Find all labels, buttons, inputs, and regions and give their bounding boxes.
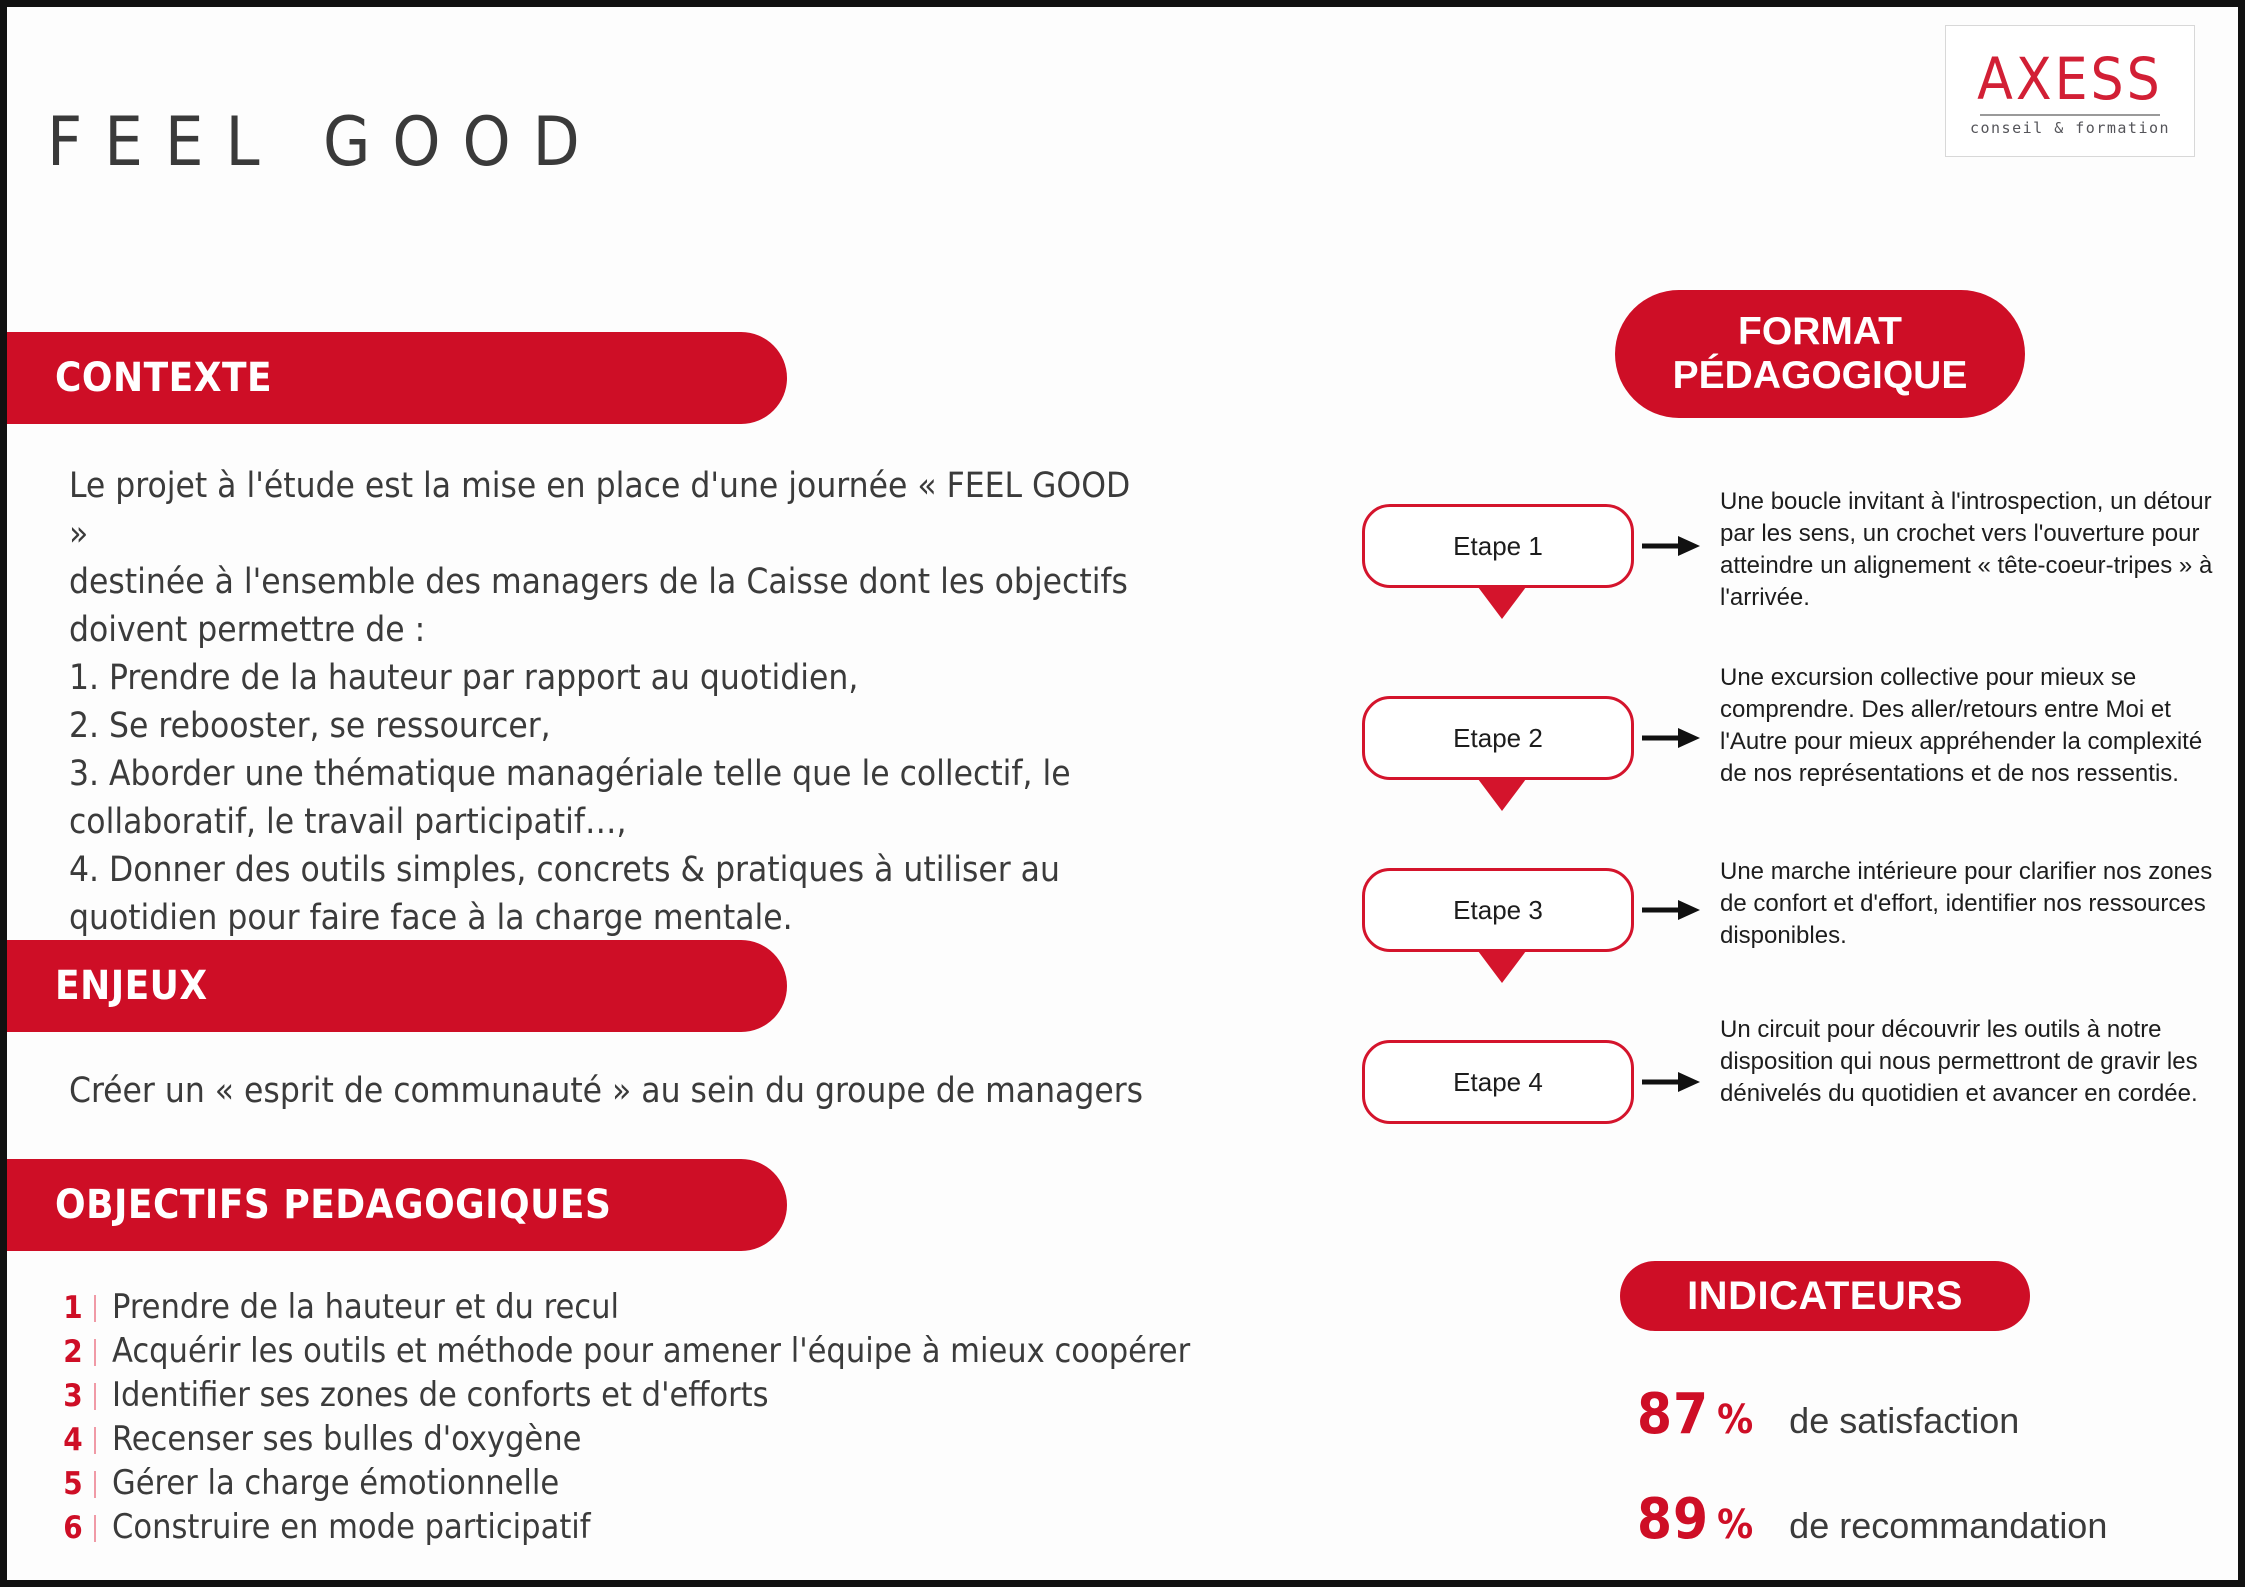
section-banner-enjeux: ENJEUX: [7, 940, 787, 1032]
objectif-text: Gérer la charge émotionnelle: [112, 1463, 559, 1503]
objectif-separator: [94, 1295, 96, 1322]
objectif-number: 5: [62, 1466, 84, 1502]
step-label: Etape 4: [1453, 1067, 1543, 1098]
step-label: Etape 2: [1453, 723, 1543, 754]
infographic-page: FEEL GOOD AXESS conseil & formation CONT…: [0, 0, 2245, 1587]
indicator-label: de satisfaction: [1789, 1400, 2019, 1442]
indicator-unit: %: [1717, 1502, 1753, 1548]
objectifs-list: 1 Prendre de la hauteur et du recul 2 Ac…: [62, 1287, 1242, 1551]
down-triangle-icon: [1478, 951, 1526, 983]
logo-tagline: conseil & formation: [1970, 121, 2170, 136]
page-title: FEEL GOOD: [47, 103, 602, 182]
list-item: 3 Identifier ses zones de conforts et d'…: [62, 1375, 1242, 1419]
step-box-etape-2: Etape 2: [1362, 696, 1634, 780]
contexte-line: Le projet à l'étude est la mise en place…: [69, 462, 1149, 558]
objectif-separator: [94, 1515, 96, 1542]
step-label: Etape 3: [1453, 895, 1543, 926]
right-arrow-icon: [1640, 720, 1702, 756]
logo-wordmark: AXESS: [1977, 50, 2163, 108]
banner-label-format: FORMAT PÉDAGOGIQUE: [1673, 310, 1968, 398]
logo-divider: [1980, 114, 2160, 116]
step-description: Un circuit pour découvrir les outils à n…: [1720, 1014, 2215, 1110]
contexte-line: 2. Se rebooster, se ressourcer,: [69, 702, 1149, 750]
list-item: 6 Construire en mode participatif: [62, 1507, 1242, 1551]
step-description: Une marche intérieure pour clarifier nos…: [1720, 856, 2215, 952]
contexte-line: 1. Prendre de la hauteur par rapport au …: [69, 654, 1149, 702]
objectif-number: 3: [62, 1378, 84, 1414]
objectif-separator: [94, 1339, 96, 1366]
axess-logo: AXESS conseil & formation: [1945, 25, 2195, 157]
indicator-row: 87 % de satisfaction: [1637, 1382, 2019, 1447]
contexte-line: 3. Aborder une thématique managériale te…: [69, 750, 1149, 798]
right-arrow-icon: [1640, 1064, 1702, 1100]
contexte-line: 4. Donner des outils simples, concrets &…: [69, 846, 1149, 894]
section-banner-format-pedagogique: FORMAT PÉDAGOGIQUE: [1615, 290, 2025, 418]
enjeux-body: Créer un « esprit de communauté » au sei…: [69, 1067, 1169, 1115]
step-description: Une excursion collective pour mieux se c…: [1720, 662, 2215, 790]
step-box-etape-1: Etape 1: [1362, 504, 1634, 588]
objectif-text: Acquérir les outils et méthode pour amen…: [112, 1331, 1190, 1371]
banner-label-enjeux: ENJEUX: [7, 963, 208, 1009]
section-banner-contexte: CONTEXTE: [7, 332, 787, 424]
indicator-value: 87: [1637, 1382, 1709, 1447]
right-arrow-icon: [1640, 528, 1702, 564]
objectif-number: 2: [62, 1334, 84, 1370]
contexte-line: collaboratif, le travail participatif…,: [69, 798, 1149, 846]
banner-label-objectifs: OBJECTIFS PEDAGOGIQUES: [7, 1182, 611, 1228]
section-banner-indicateurs: INDICATEURS: [1620, 1261, 2030, 1331]
contexte-line: destinée à l'ensemble des managers de la…: [69, 558, 1149, 606]
step-label: Etape 1: [1453, 531, 1543, 562]
down-triangle-icon: [1478, 587, 1526, 619]
banner-label-indicateurs: INDICATEURS: [1687, 1274, 1963, 1319]
objectif-separator: [94, 1471, 96, 1498]
objectif-number: 4: [62, 1422, 84, 1458]
objectif-text: Identifier ses zones de conforts et d'ef…: [112, 1375, 769, 1415]
list-item: 5 Gérer la charge émotionnelle: [62, 1463, 1242, 1507]
objectif-text: Recenser ses bulles d'oxygène: [112, 1419, 581, 1459]
banner-label-format-line1: FORMAT: [1738, 310, 1902, 353]
indicator-value: 89: [1637, 1487, 1709, 1552]
contexte-line: doivent permettre de :: [69, 606, 1149, 654]
banner-label-contexte: CONTEXTE: [7, 355, 272, 401]
indicator-unit: %: [1717, 1397, 1753, 1443]
list-item: 4 Recenser ses bulles d'oxygène: [62, 1419, 1242, 1463]
objectif-number: 1: [62, 1290, 84, 1326]
objectif-number: 6: [62, 1510, 84, 1546]
list-item: 1 Prendre de la hauteur et du recul: [62, 1287, 1242, 1331]
right-arrow-icon: [1640, 892, 1702, 928]
step-box-etape-3: Etape 3: [1362, 868, 1634, 952]
down-triangle-icon: [1478, 779, 1526, 811]
objectif-text: Prendre de la hauteur et du recul: [112, 1287, 619, 1327]
contexte-line: quotidien pour faire face à la charge me…: [69, 894, 1149, 942]
objectif-text: Construire en mode participatif: [112, 1507, 591, 1547]
indicator-label: de recommandation: [1789, 1505, 2107, 1547]
indicator-row: 89 % de recommandation: [1637, 1487, 2107, 1552]
step-description: Une boucle invitant à l'introspection, u…: [1720, 486, 2215, 614]
objectif-separator: [94, 1383, 96, 1410]
contexte-body: Le projet à l'étude est la mise en place…: [69, 462, 1149, 942]
list-item: 2 Acquérir les outils et méthode pour am…: [62, 1331, 1242, 1375]
section-banner-objectifs: OBJECTIFS PEDAGOGIQUES: [7, 1159, 787, 1251]
objectif-separator: [94, 1427, 96, 1454]
step-box-etape-4: Etape 4: [1362, 1040, 1634, 1124]
banner-label-format-line2: PÉDAGOGIQUE: [1673, 354, 1968, 397]
